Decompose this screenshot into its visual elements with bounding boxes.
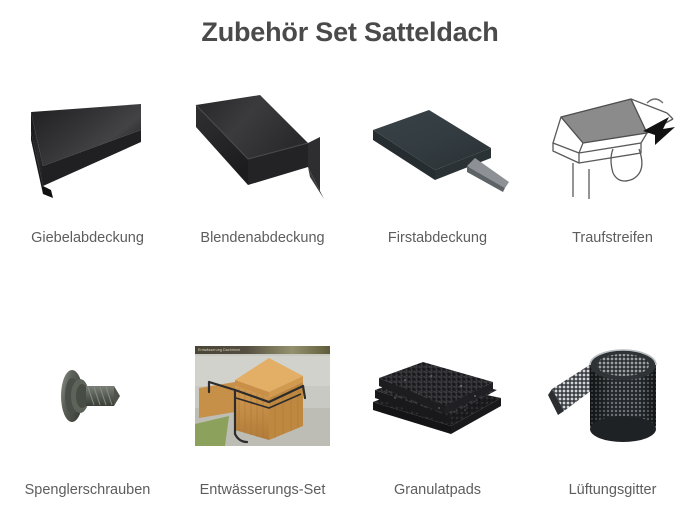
gable-flashing-icon bbox=[13, 90, 163, 202]
product-image-lueftungsgitter bbox=[525, 332, 700, 460]
product-cell-traufstreifen[interactable]: Traufstreifen bbox=[525, 82, 700, 246]
photo-caption-text: Entwässerung Dachrinne bbox=[195, 346, 330, 354]
product-row-2: Spenglerschrauben bbox=[0, 332, 700, 498]
product-image-traufstreifen bbox=[525, 82, 700, 210]
granulate-pads-icon bbox=[365, 346, 510, 446]
roofing-screw-icon bbox=[28, 346, 148, 446]
product-image-granulatpads bbox=[350, 332, 525, 460]
product-cell-spenglerschrauben[interactable]: Spenglerschrauben bbox=[0, 332, 175, 498]
product-label-lueftungsgitter: Lüftungsgitter bbox=[569, 482, 657, 498]
product-cell-blendenabdeckung[interactable]: Blendenabdeckung bbox=[175, 82, 350, 246]
product-cell-entwaesserungs-set[interactable]: Entwässerung Dachrinne Entwässerungs-Set bbox=[175, 332, 350, 498]
product-label-traufstreifen: Traufstreifen bbox=[572, 230, 653, 246]
page-title: Zubehör Set Satteldach bbox=[0, 17, 700, 48]
product-label-blendenabdeckung: Blendenabdeckung bbox=[200, 230, 324, 246]
product-cell-lueftungsgitter[interactable]: Lüftungsgitter bbox=[525, 332, 700, 498]
product-label-firstabdeckung: Firstabdeckung bbox=[388, 230, 487, 246]
product-row-1: Giebelabdeckung bbox=[0, 82, 700, 246]
shed-photo: Entwässerung Dachrinne bbox=[195, 346, 330, 446]
product-image-blendenabdeckung bbox=[175, 82, 350, 210]
product-label-granulatpads: Granulatpads bbox=[394, 482, 481, 498]
ventilation-grille-icon bbox=[538, 341, 688, 451]
product-label-giebelabdeckung: Giebelabdeckung bbox=[31, 230, 144, 246]
eaves-drip-strip-icon bbox=[543, 87, 683, 205]
product-image-firstabdeckung bbox=[350, 82, 525, 210]
product-cell-giebelabdeckung[interactable]: Giebelabdeckung bbox=[0, 82, 175, 246]
photo-caption-banner: Entwässerung Dachrinne bbox=[195, 346, 330, 354]
product-label-entwaesserungs-set: Entwässerungs-Set bbox=[200, 482, 326, 498]
product-image-giebelabdeckung bbox=[0, 82, 175, 210]
ridge-cap-icon bbox=[363, 96, 513, 196]
fascia-flashing-icon bbox=[188, 87, 338, 205]
product-image-entwaesserungs-set: Entwässerung Dachrinne bbox=[175, 332, 350, 460]
gutter-set-icon bbox=[195, 346, 330, 446]
product-cell-firstabdeckung[interactable]: Firstabdeckung bbox=[350, 82, 525, 246]
product-label-spenglerschrauben: Spenglerschrauben bbox=[25, 482, 151, 498]
product-image-spenglerschrauben bbox=[0, 332, 175, 460]
product-accessory-sheet: Zubehör Set Satteldach bbox=[0, 0, 700, 525]
product-cell-granulatpads[interactable]: Granulatpads bbox=[350, 332, 525, 498]
